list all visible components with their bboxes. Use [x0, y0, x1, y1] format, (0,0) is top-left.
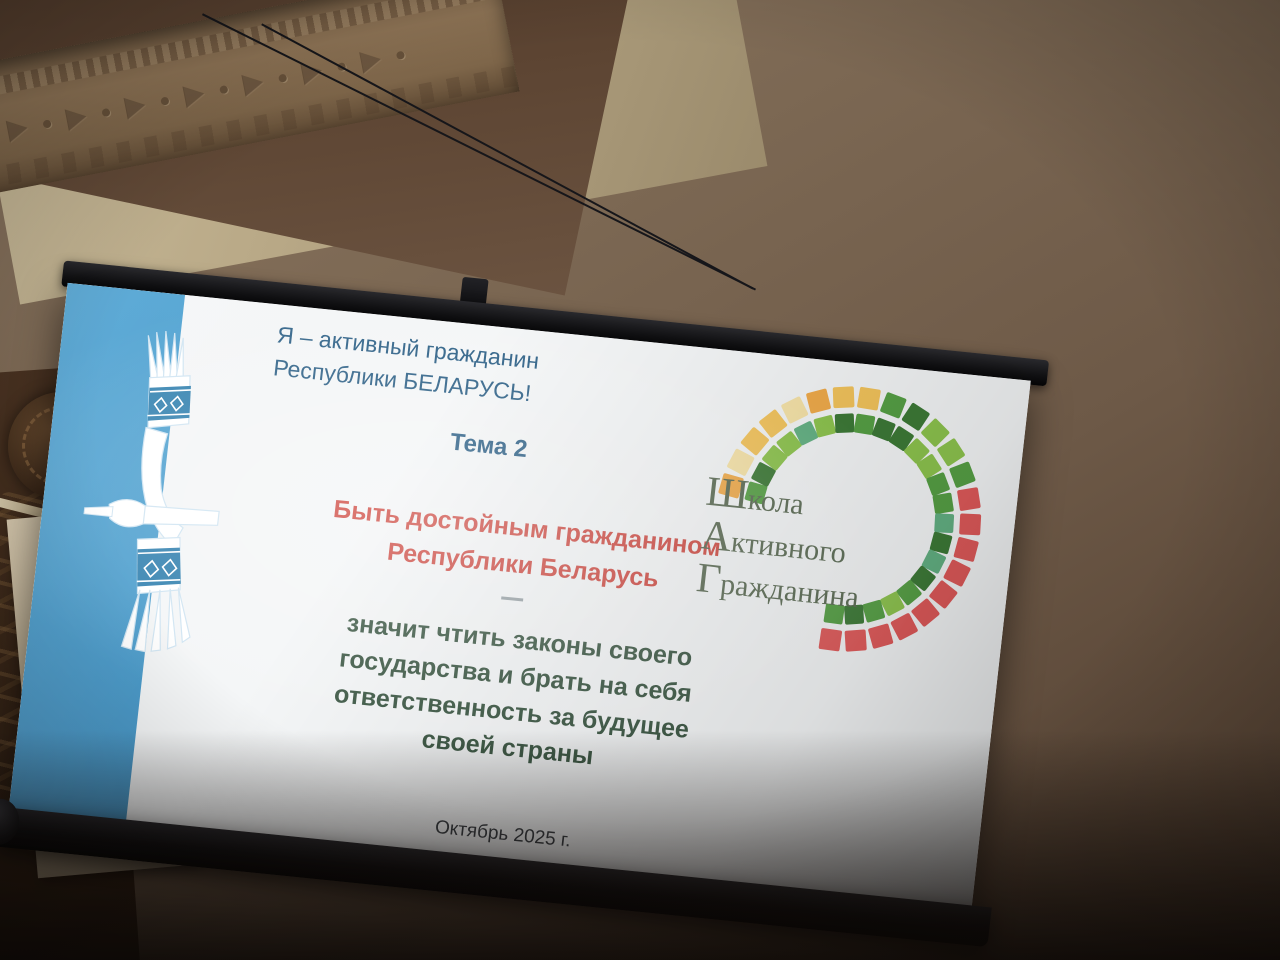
slide-separator-dash	[501, 596, 523, 601]
shkola-aktivnogo-grazhdanina-logo: Школа Активного Гражданина	[682, 355, 1014, 683]
screen-surface: Я – активный гражданин Республики БЕЛАРУ…	[8, 283, 1031, 913]
logo-text: Школа Активного Гражданина	[694, 471, 926, 623]
slide-content: Я – активный гражданин Республики БЕЛАРУ…	[125, 295, 1030, 914]
presentation-slide: Я – активный гражданин Республики БЕЛАРУ…	[8, 283, 1031, 913]
photo-scene: Я – активный гражданин Республики БЕЛАРУ…	[0, 0, 1280, 960]
projection-screen: Я – активный гражданин Республики БЕЛАРУ…	[0, 12, 1067, 960]
slide-theme-label: Тема 2	[449, 428, 529, 464]
